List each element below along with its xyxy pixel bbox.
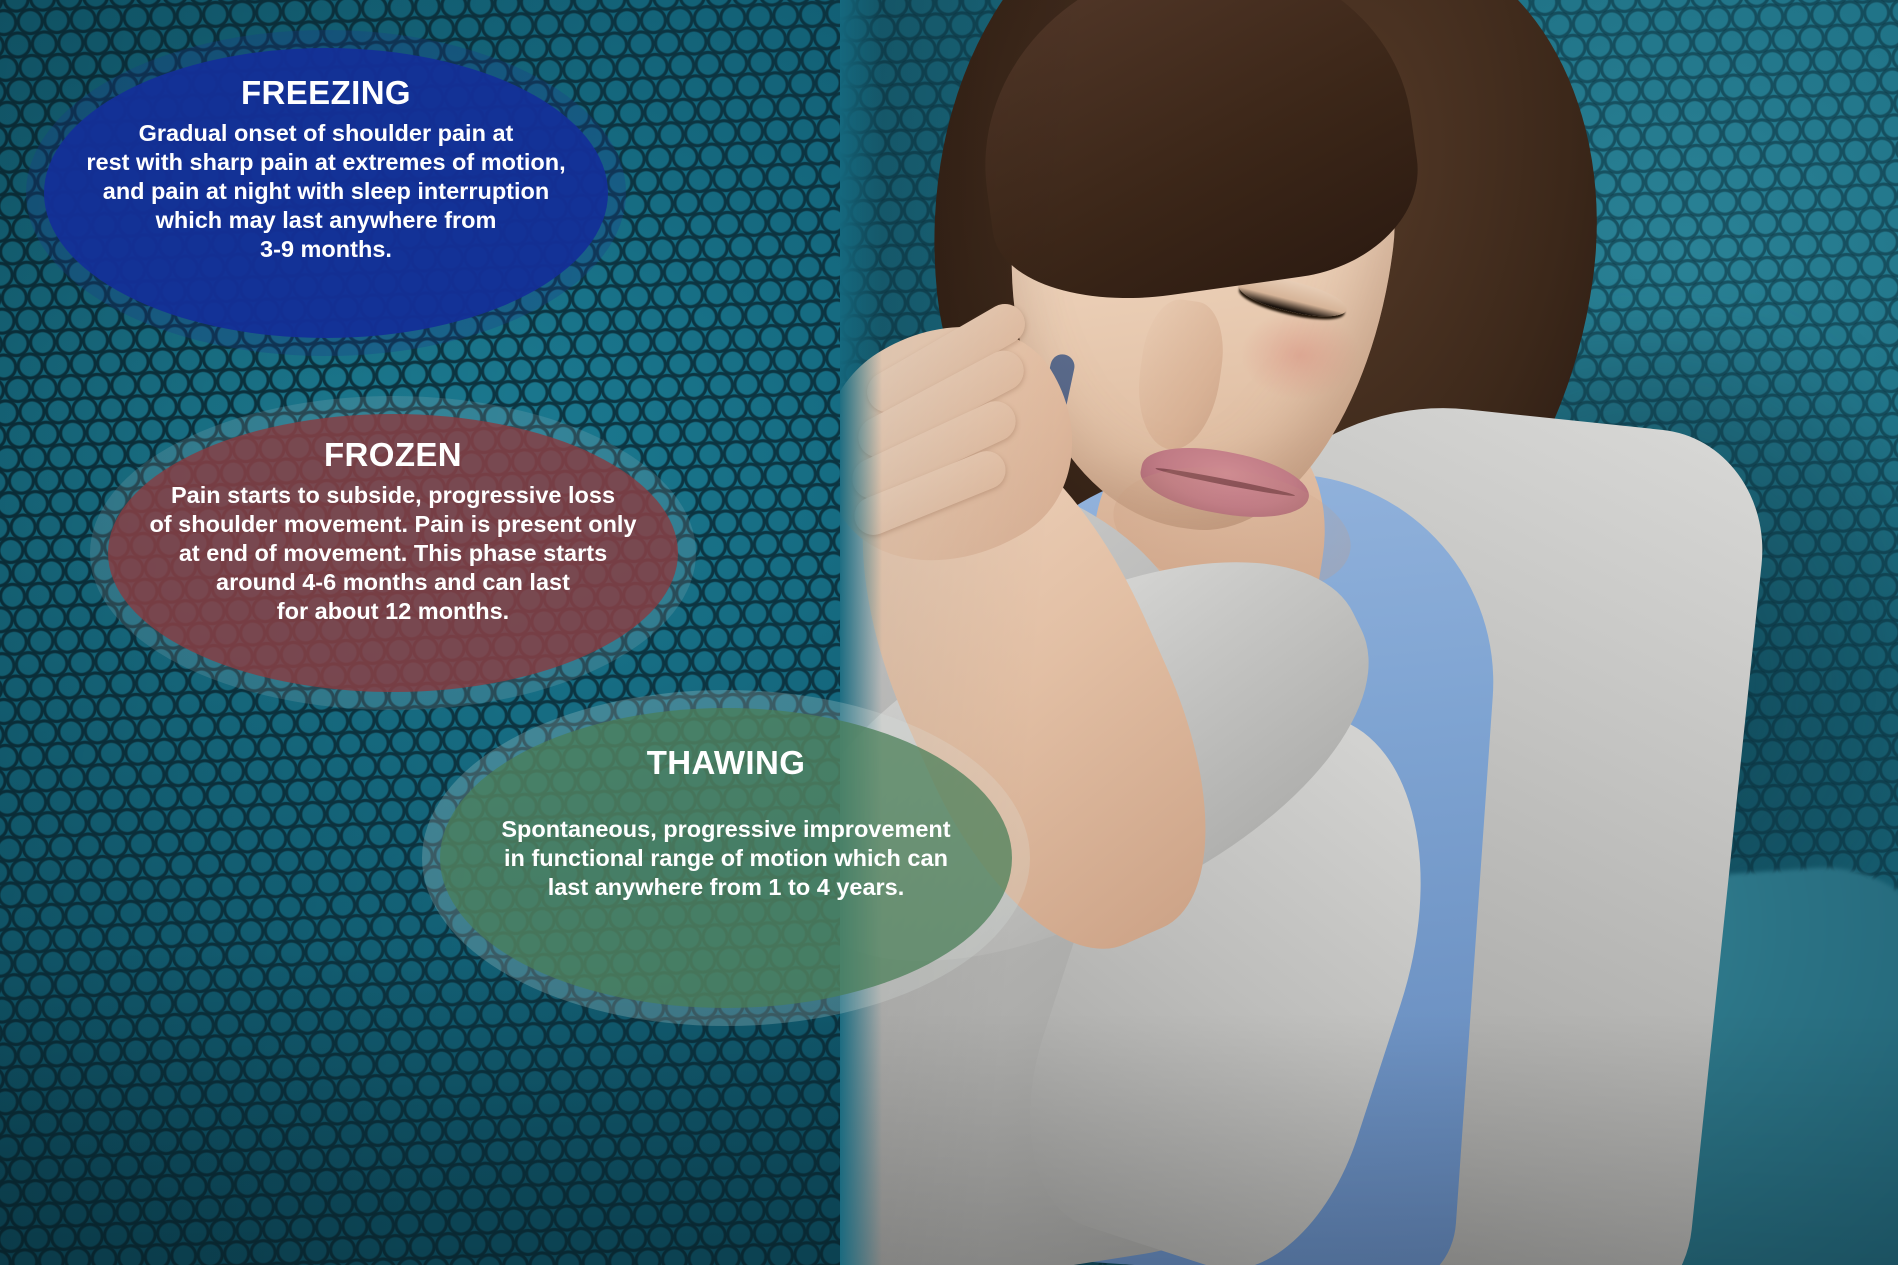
stage-callout-freezing: FREEZING Gradual onset of shoulder pain … <box>44 48 608 338</box>
woman-holding-shoulder-photo <box>840 0 1898 1265</box>
freezing-description: Gradual onset of shoulder pain at rest w… <box>86 119 565 265</box>
freezing-title: FREEZING <box>241 76 411 111</box>
stage-callout-frozen: FROZEN Pain starts to subside, progressi… <box>108 414 678 692</box>
thawing-description: Spontaneous, progressive improvement in … <box>501 815 950 902</box>
frozen-description: Pain starts to subside, progressive loss… <box>149 481 636 627</box>
infographic-canvas: FREEZING Gradual onset of shoulder pain … <box>0 0 1898 1265</box>
thawing-title: THAWING <box>647 746 806 781</box>
stage-callout-thawing: THAWING Spontaneous, progressive improve… <box>440 708 1012 1008</box>
photo-left-edge-feather <box>840 0 1898 1265</box>
frozen-title: FROZEN <box>324 438 462 473</box>
